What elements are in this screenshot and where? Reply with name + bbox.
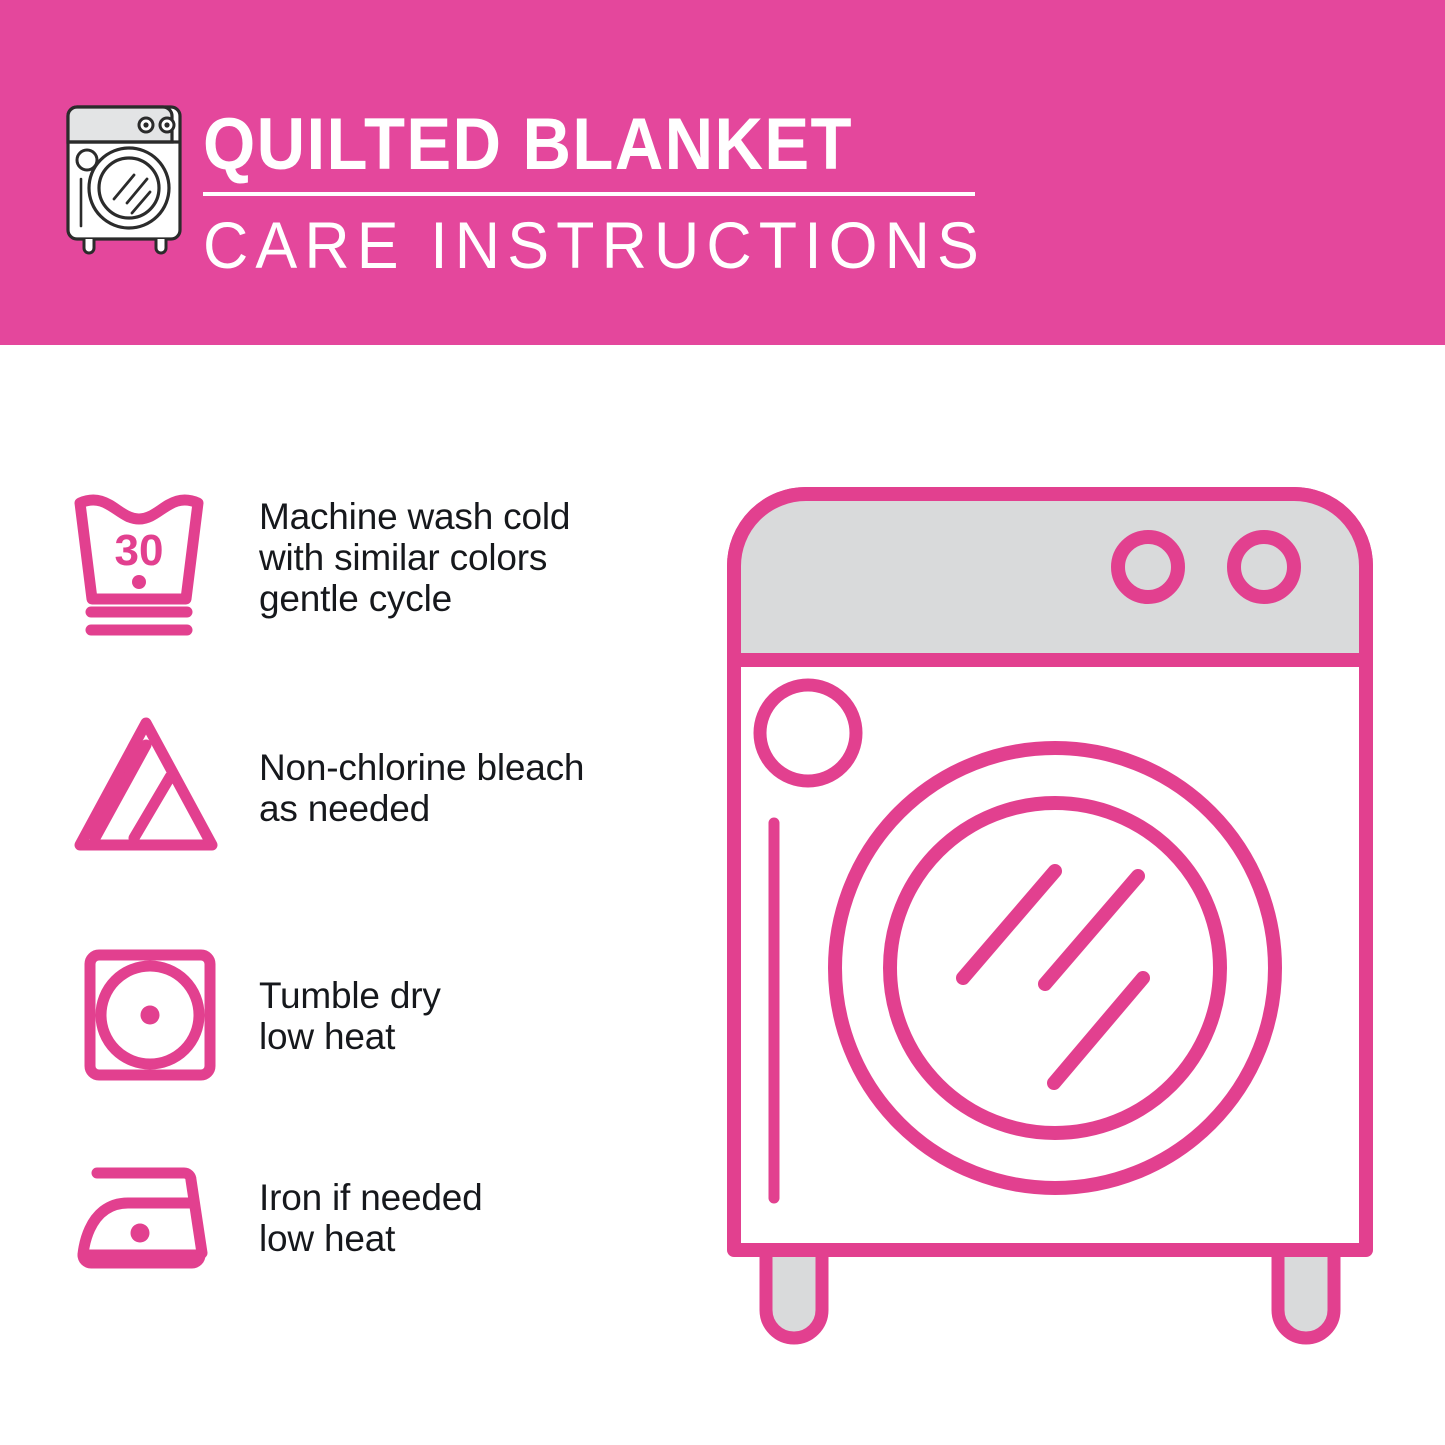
wash-tub-30-icon: 30 (62, 475, 237, 640)
header-title-group: QUILTED BLANKET CARE INSTRUCTIONS (203, 104, 993, 282)
control-knob-1 (1118, 537, 1178, 597)
care-item-text: Iron if needed low heat (259, 1177, 700, 1259)
care-item-machine-wash: 30 Machine wash cold with similar colors… (0, 475, 700, 640)
care-text-line: gentle cycle (259, 578, 700, 619)
care-instructions-page: QUILTED BLANKET CARE INSTRUCTIONS 30 (0, 0, 1445, 1445)
care-item-tumble-dry: Tumble dry low heat (0, 933, 700, 1098)
care-text-line: Non-chlorine bleach (259, 747, 700, 788)
care-item-text: Non-chlorine bleach as needed (259, 747, 700, 829)
tumble-dry-low-icon (62, 933, 237, 1098)
care-instruction-list: 30 Machine wash cold with similar colors… (0, 345, 700, 1445)
care-text-line: as needed (259, 788, 700, 829)
care-item-text: Machine wash cold with similar colors ge… (259, 496, 700, 619)
page-title: QUILTED BLANKET (203, 104, 930, 186)
header-banner: QUILTED BLANKET CARE INSTRUCTIONS (0, 0, 1445, 345)
front-load-washing-machine-illustration (718, 478, 1418, 1368)
page-subtitle: CARE INSTRUCTIONS (203, 208, 954, 282)
care-text-line: Machine wash cold (259, 496, 700, 537)
machine-indicator-circle (760, 685, 856, 781)
title-divider (203, 192, 975, 196)
washing-machine-icon (60, 103, 190, 255)
care-text-line: with similar colors (259, 537, 700, 578)
care-item-iron: Iron if needed low heat (0, 1135, 700, 1300)
care-item-text: Tumble dry low heat (259, 975, 700, 1057)
care-item-bleach: Non-chlorine bleach as needed (0, 705, 700, 870)
care-text-line: Tumble dry (259, 975, 700, 1016)
care-text-line: low heat (259, 1016, 700, 1057)
wash-temperature-label: 30 (115, 526, 164, 575)
control-knob-2 (1234, 537, 1294, 597)
care-text-line: Iron if needed (259, 1177, 700, 1218)
bleach-triangle-icon (62, 705, 237, 870)
care-text-line: low heat (259, 1218, 700, 1259)
iron-low-heat-icon (62, 1135, 237, 1300)
